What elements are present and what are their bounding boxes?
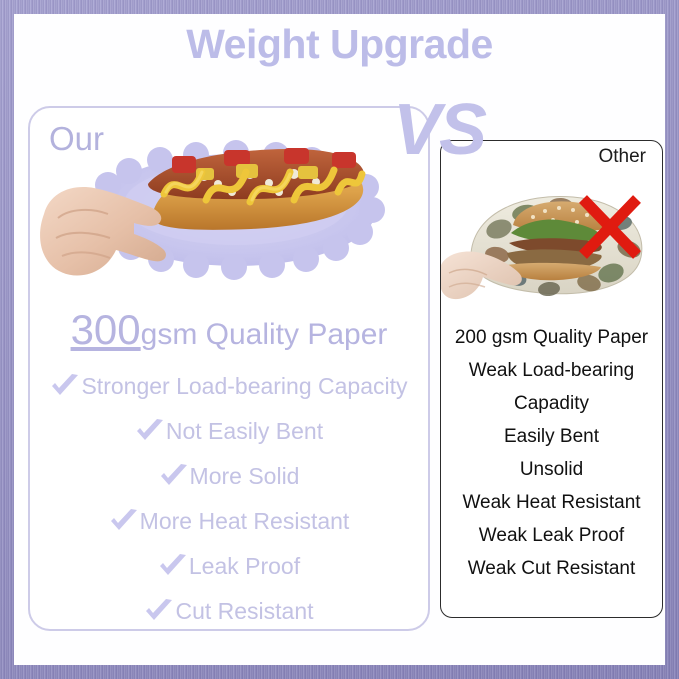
list-item-label: Stronger Load-bearing Capacity <box>81 373 407 400</box>
list-item: Capadity <box>441 387 662 420</box>
other-label: Other <box>598 147 646 166</box>
poster-canvas: Weight Upgrade VS Our <box>14 14 665 665</box>
wooden-frame: Weight Upgrade VS Our <box>0 0 679 679</box>
list-item: Weak Leak Proof <box>441 519 662 552</box>
list-item-label: More Solid <box>190 463 300 490</box>
list-item-label: Not Easily Bent <box>166 418 323 445</box>
our-product-card: Our <box>28 106 430 631</box>
our-feature-list: Stronger Load-bearing Capacity Not Easil… <box>30 364 428 634</box>
list-item: Weak Load-bearing <box>441 354 662 387</box>
check-icon <box>135 419 165 445</box>
check-icon <box>144 599 174 625</box>
other-product-card: Other <box>440 140 663 618</box>
hotdog-on-plate-image <box>36 122 426 297</box>
list-item-label: Leak Proof <box>189 553 300 580</box>
gsm-value: 300 <box>71 306 141 353</box>
check-icon <box>158 554 188 580</box>
gsm-unit-text: gsm Quality Paper <box>141 318 388 351</box>
list-item: More Solid <box>30 454 428 499</box>
list-item: Easily Bent <box>441 420 662 453</box>
list-item-label: More Heat Resistant <box>140 508 350 535</box>
list-item: Stronger Load-bearing Capacity <box>30 364 428 409</box>
list-item: Not Easily Bent <box>30 409 428 454</box>
check-icon <box>159 464 189 490</box>
list-item: Leak Proof <box>30 544 428 589</box>
list-item: Weak Cut Resistant <box>441 552 662 585</box>
list-item: 200 gsm Quality Paper <box>441 321 662 354</box>
list-item: Cut Resistant <box>30 589 428 634</box>
check-icon <box>50 374 80 400</box>
other-feature-list: 200 gsm Quality Paper Weak Load-bearing … <box>441 321 662 585</box>
check-icon <box>109 509 139 535</box>
list-item: More Heat Resistant <box>30 499 428 544</box>
burger-on-plate-image <box>441 177 663 312</box>
list-item: Weak Heat Resistant <box>441 486 662 519</box>
list-item: Unsolid <box>441 453 662 486</box>
page-title: Weight Upgrade <box>14 24 665 65</box>
gsm-headline: 300gsm Quality Paper <box>30 306 428 354</box>
list-item-label: Cut Resistant <box>175 598 313 625</box>
